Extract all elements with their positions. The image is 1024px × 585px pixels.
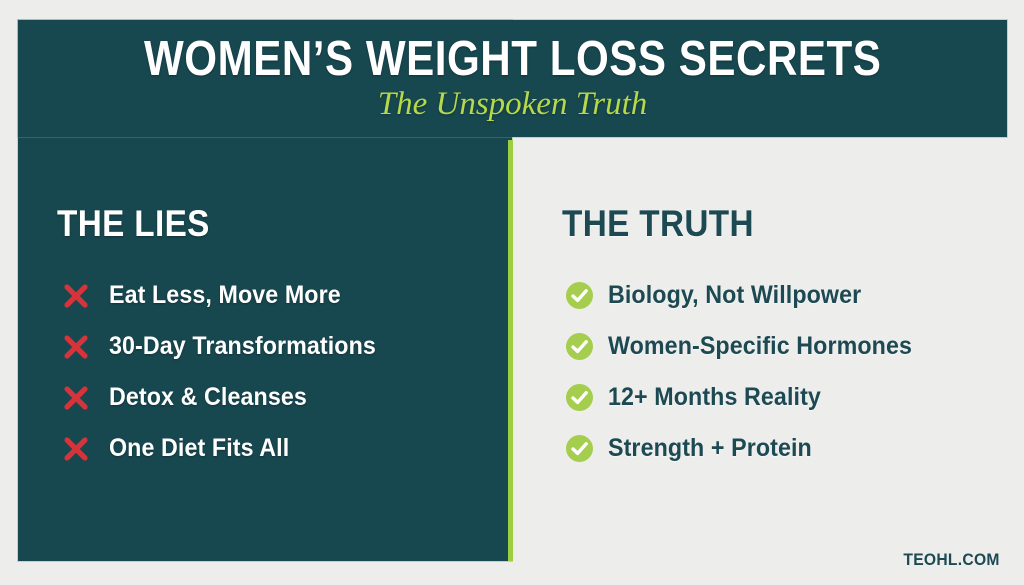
- page-subtitle: The Unspoken Truth: [378, 87, 648, 122]
- cross-icon: [61, 281, 91, 311]
- list-item: Detox & Cleanses: [57, 372, 477, 423]
- list-item: Women-Specific Hormones: [562, 321, 992, 372]
- header-content: WOMEN’S WEIGHT LOSS SECRETS The Unspoken…: [18, 20, 1007, 137]
- site-watermark: TEOHL.COM: [904, 550, 1000, 570]
- column-truth-heading: THE TRUTH: [562, 205, 949, 242]
- list-item-label: Women-Specific Hormones: [608, 334, 912, 359]
- list-item: 12+ Months Reality: [562, 372, 992, 423]
- list-item: Eat Less, Move More: [57, 270, 477, 321]
- list-item-label: 30-Day Transformations: [109, 334, 376, 359]
- infographic-canvas: WOMEN’S WEIGHT LOSS SECRETS The Unspoken…: [0, 0, 1024, 585]
- list-item-label: Strength + Protein: [608, 436, 812, 461]
- list-item: 30-Day Transformations: [57, 321, 477, 372]
- cross-icon: [61, 434, 91, 464]
- list-item-label: Eat Less, Move More: [109, 283, 341, 308]
- page-title: WOMEN’S WEIGHT LOSS SECRETS: [144, 35, 881, 85]
- lies-list: Eat Less, Move More 30-Day Transformatio…: [57, 270, 477, 474]
- column-lies: THE LIES Eat Less, Move More: [57, 205, 477, 474]
- cross-icon: [61, 332, 91, 362]
- check-circle-icon: [564, 281, 594, 311]
- list-item: One Diet Fits All: [57, 423, 477, 474]
- column-lies-heading: THE LIES: [57, 205, 435, 242]
- column-truth: THE TRUTH Biology, Not Willpower: [562, 205, 992, 474]
- list-item-label: 12+ Months Reality: [608, 385, 821, 410]
- cross-icon: [61, 383, 91, 413]
- column-divider: [508, 140, 513, 561]
- list-item: Strength + Protein: [562, 423, 992, 474]
- check-circle-icon: [564, 332, 594, 362]
- list-item-label: Biology, Not Willpower: [608, 283, 861, 308]
- check-circle-icon: [564, 383, 594, 413]
- list-item: Biology, Not Willpower: [562, 270, 992, 321]
- list-item-label: One Diet Fits All: [109, 436, 289, 461]
- list-item-label: Detox & Cleanses: [109, 385, 307, 410]
- truth-list: Biology, Not Willpower Women-Specific Ho…: [562, 270, 992, 474]
- check-circle-icon: [564, 434, 594, 464]
